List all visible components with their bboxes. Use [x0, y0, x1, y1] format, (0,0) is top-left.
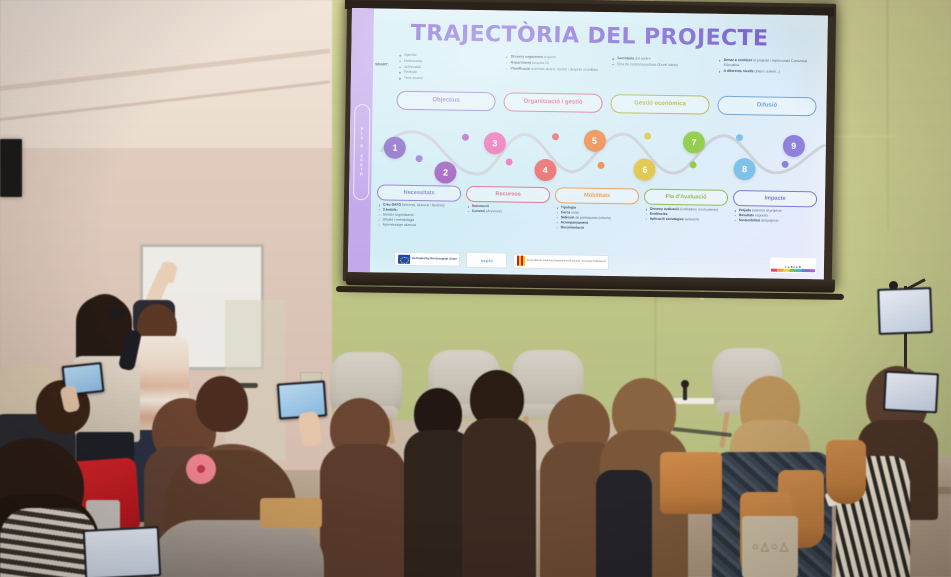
- generalitat-logo: Generalitat de Catalunya Departament d'E…: [513, 253, 609, 270]
- audience-sweater-foreground: [152, 520, 324, 577]
- bullet: Aplicació estratègies avaluació: [650, 217, 728, 223]
- timeline-wave: 123456789: [379, 116, 826, 185]
- microphone-head: [681, 380, 689, 388]
- timeline-dot: [690, 161, 697, 168]
- timeline-dot: [598, 162, 605, 169]
- timeline-circle-number: 4: [543, 165, 548, 175]
- audience-striped-shirt: [0, 508, 96, 577]
- timeline-circle-5[interactable]: 5: [583, 130, 605, 152]
- pill-necessitats[interactable]: Necessitats: [377, 184, 461, 201]
- pill-recursos[interactable]: Recursos: [466, 186, 550, 203]
- sub-bullet: Aprenentatge alumnat: [383, 222, 461, 228]
- timeline-circle-3[interactable]: 3: [484, 132, 506, 154]
- column-impacte: Petjada posterior al projecte Resultats …: [733, 208, 817, 234]
- generalitat-logo-text: Generalitat de Catalunya Departament d'E…: [527, 259, 606, 263]
- timeline-dot: [552, 133, 559, 140]
- timeline-dot: [462, 134, 469, 141]
- pill-organitzacio-gestio[interactable]: Organització i gestió: [503, 92, 602, 113]
- timeline-circle-number: 6: [642, 165, 647, 175]
- smart-label: SMART:: [375, 62, 389, 66]
- timeline-dot: [736, 134, 743, 141]
- pill-mobilitats[interactable]: Mobilitats: [555, 187, 639, 204]
- timeline-dot: [416, 155, 423, 162]
- bullet: A diferents nivells (intern, extern...): [724, 69, 818, 76]
- timeline-circle-number: 8: [742, 164, 747, 174]
- audience-jacket: [596, 470, 652, 577]
- sepie-logo: sepie: [466, 252, 507, 269]
- laptop-device[interactable]: [83, 526, 162, 577]
- school-logo: ●▲■●▲■: [770, 258, 816, 274]
- laptop-device[interactable]: [877, 287, 933, 335]
- slide-title: TRAJECTÒRIA DEL PROJECTE: [351, 20, 827, 52]
- timeline-circle-number: 9: [791, 141, 796, 151]
- funding-logos: Co-funded by the European Union sepie Ge…: [394, 251, 609, 270]
- timeline-circle-2[interactable]: 2: [434, 161, 456, 183]
- wall-speaker: [0, 139, 22, 197]
- pill-impacte[interactable]: Impacte: [733, 190, 817, 207]
- school-logo-bars: [771, 269, 815, 273]
- pill-difusio[interactable]: Difusió: [717, 96, 816, 117]
- timeline-dot: [644, 133, 651, 140]
- bullet: Time-bound: [404, 76, 498, 83]
- eu-logo-text: Co-funded by the European Union: [412, 257, 457, 261]
- eu-flag-logo: Co-funded by the European Union: [394, 252, 461, 267]
- column-mobilitats: Tipologia Cerca socis Selecció de partic…: [555, 205, 639, 231]
- laptop-device[interactable]: [883, 371, 939, 414]
- pill-pla-avaluacio[interactable]: Pla d'Avaluació: [644, 189, 728, 206]
- laptop-screen: [879, 289, 930, 333]
- slide-sidebar: PLA D'ACCIÓ: [348, 8, 374, 272]
- column-objectius: SMART: Specific Measurable Achievable Re…: [397, 53, 498, 83]
- laptop-screen: [885, 373, 937, 412]
- bullet: Conveni (Annexos): [472, 209, 550, 215]
- tote-bag-print: ○△○△: [752, 540, 790, 553]
- bullet: Sostenibilitat del projecte: [739, 218, 817, 224]
- timeline-circle-9[interactable]: 9: [783, 135, 805, 157]
- top-columns: SMART: Specific Measurable Achievable Re…: [397, 53, 817, 88]
- sepie-logo-text: sepie: [481, 258, 493, 263]
- pla-daccio-label: PLA D'ACCIÓ: [353, 104, 371, 200]
- audience-body: [320, 444, 406, 577]
- timeline-circle-number: 5: [592, 136, 597, 146]
- column-recursos: Subvenció Conveni (Annexos): [466, 204, 550, 230]
- bullet: Donar a conèixer el projecte i repercuss…: [724, 58, 818, 70]
- column-gestio-economica: Secretaria del centre Eina de control ec…: [610, 56, 711, 86]
- timeline-circle-4[interactable]: 4: [534, 159, 556, 181]
- audience-head: [196, 376, 248, 432]
- column-organitzacio: Disseny seguiment projecte Repartiment t…: [503, 54, 604, 84]
- presentation-slide: PLA D'ACCIÓ TRAJECTÒRIA DEL PROJECTE SMA…: [348, 8, 828, 279]
- timeline-dot: [506, 158, 513, 165]
- eu-flag-icon: [397, 254, 409, 263]
- column-pla-avaluacio: Disseny avaluació (indicadors i instrume…: [644, 207, 728, 233]
- screenshot-root: PLA D'ACCIÓ TRAJECTÒRIA DEL PROJECTE SMA…: [0, 0, 951, 577]
- laptop-screen: [85, 528, 159, 577]
- timeline-circle-number: 1: [392, 143, 397, 153]
- bullet: Planificació activitats abans, durant i …: [511, 66, 605, 73]
- audience-body: [462, 418, 536, 577]
- top-pill-row: Objectius Organització i gestió Gestió e…: [396, 91, 816, 117]
- timeline-circle-number: 2: [443, 167, 448, 177]
- wall-seam-2: [886, 0, 889, 230]
- timeline-circle-number: 7: [691, 137, 696, 147]
- bottom-columns: Creu DAFO (docents, alumnat i famílies) …: [377, 202, 817, 234]
- pill-objectius[interactable]: Objectius: [396, 91, 495, 112]
- bullet: Eina de control econòmic (Excel intern): [617, 62, 711, 69]
- column-necessitats: Creu DAFO (docents, alumnat i famílies) …: [377, 202, 461, 228]
- bullet: Documentació: [561, 225, 639, 231]
- pill-gestio-economica[interactable]: Gestió econòmica: [610, 94, 709, 115]
- timeline-circle-number: 3: [492, 138, 497, 148]
- timeline-dot: [782, 161, 789, 168]
- flower-hair-clip: [186, 454, 216, 484]
- wooden-chair[interactable]: [260, 498, 322, 528]
- catalonia-flag-icon: [517, 256, 525, 266]
- column-difusio: Donar a conèixer el projecte i repercuss…: [716, 58, 817, 88]
